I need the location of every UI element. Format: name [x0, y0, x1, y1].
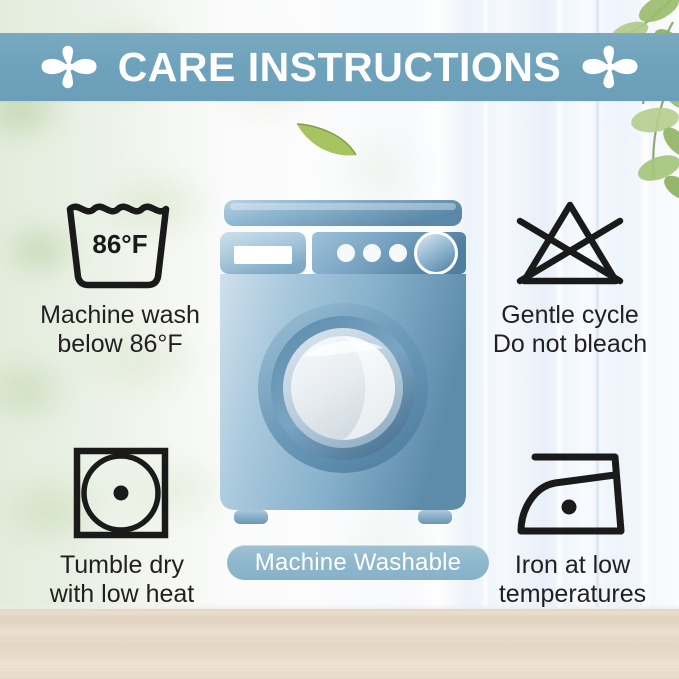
wood-grain-texture — [0, 609, 679, 679]
care-symbol-tumble-dry: Tumble dry with low heat — [18, 440, 226, 609]
wash-temperature-value: 86°F — [92, 229, 147, 259]
care-symbol-caption: Machine wash below 86°F — [40, 301, 200, 359]
machine-washable-badge: Machine Washable — [227, 545, 489, 580]
icon-container — [510, 190, 630, 295]
icon-container — [67, 440, 177, 545]
washer-control-knob[interactable] — [417, 234, 455, 272]
care-instructions-graphic: CARE INSTRUCTIONS 86°F Machine wash belo… — [0, 0, 679, 679]
washer-foot — [234, 510, 268, 524]
banner: CARE INSTRUCTIONS — [0, 33, 679, 101]
care-symbol-caption: Tumble dry with low heat — [50, 551, 195, 609]
care-symbol-caption: Iron at low temperatures — [499, 551, 646, 609]
page-title: CARE INSTRUCTIONS — [118, 47, 562, 88]
icon-container: 86°F — [60, 190, 180, 295]
tumble-dry-icon — [67, 443, 177, 543]
care-symbol-caption: Gentle cycle Do not bleach — [493, 301, 647, 359]
wash-tub-icon: 86°F — [60, 193, 180, 293]
care-symbol-machine-wash: 86°F Machine wash below 86°F — [14, 190, 226, 359]
machine-washable-label: Machine Washable — [255, 549, 461, 577]
washer-foot — [418, 510, 452, 524]
care-symbol-iron-low: Iron at low temperatures — [470, 440, 675, 609]
washer-button[interactable] — [337, 244, 355, 262]
washer-button[interactable] — [363, 244, 381, 262]
washer-top-highlight — [230, 203, 456, 210]
fleur-de-lis-icon — [38, 44, 100, 90]
care-symbol-do-not-bleach: Gentle cycle Do not bleach — [466, 190, 674, 359]
washer-drawer-slot — [234, 246, 292, 264]
triangle-crossed-out-icon — [510, 193, 630, 293]
iron-one-dot-icon — [511, 443, 635, 543]
icon-container — [511, 440, 635, 545]
fleur-de-lis-icon — [579, 44, 641, 90]
washing-machine-illustration — [212, 198, 474, 543]
washer-button[interactable] — [389, 244, 407, 262]
